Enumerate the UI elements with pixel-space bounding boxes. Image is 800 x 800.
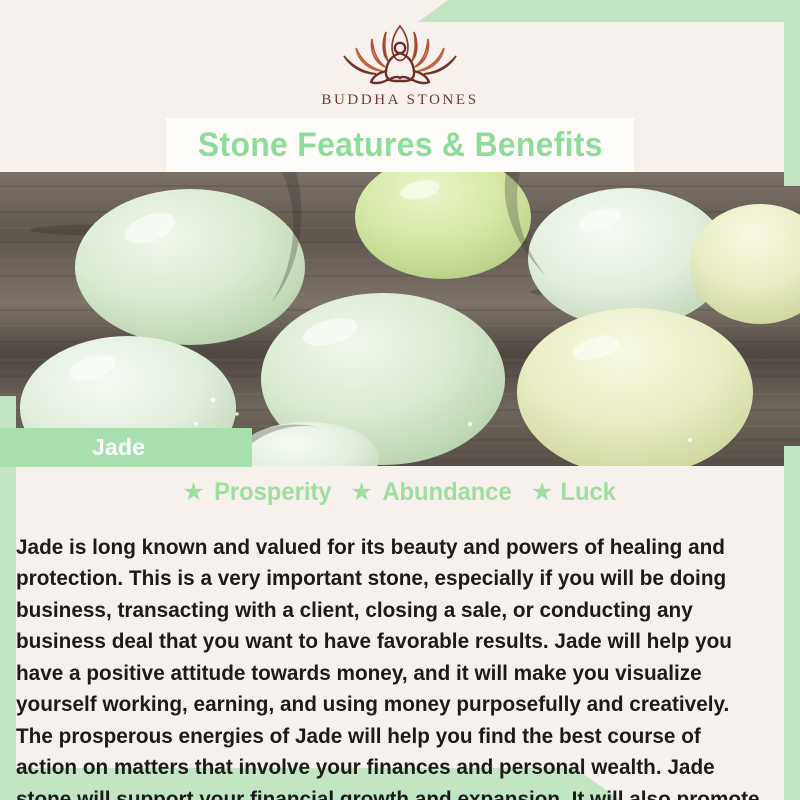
poster-canvas: BUDDHA STONES Stone Features & Benefits — [0, 0, 800, 800]
hero-photo — [0, 172, 800, 466]
star-icon: ★ — [182, 480, 204, 505]
benefit-label: Abundance — [382, 478, 511, 507]
benefit-label: Prosperity — [214, 478, 331, 507]
page-title: Stone Features & Benefits — [198, 126, 603, 165]
stone-description: Jade is long known and valued for its be… — [16, 532, 761, 800]
decor-top-right-band — [418, 0, 800, 22]
stone-name-text: Jade — [92, 434, 145, 461]
stone-name-label: Jade — [0, 428, 252, 467]
benefit-item-prosperity: ★ Prosperity — [182, 478, 334, 507]
star-icon: ★ — [350, 480, 372, 505]
lotus-meditation-icon — [340, 22, 460, 88]
brand-wordmark: BUDDHA STONES — [321, 92, 478, 109]
benefits-row: ★ Prosperity ★ Abundance ★ Luck — [0, 478, 800, 507]
benefit-item-luck: ★ Luck — [531, 478, 618, 507]
star-icon: ★ — [531, 480, 553, 505]
brand-logo: BUDDHA STONES — [0, 22, 800, 118]
title-banner: Stone Features & Benefits — [166, 118, 634, 172]
benefit-label: Luck — [561, 478, 616, 507]
benefit-item-abundance: ★ Abundance — [350, 478, 515, 507]
